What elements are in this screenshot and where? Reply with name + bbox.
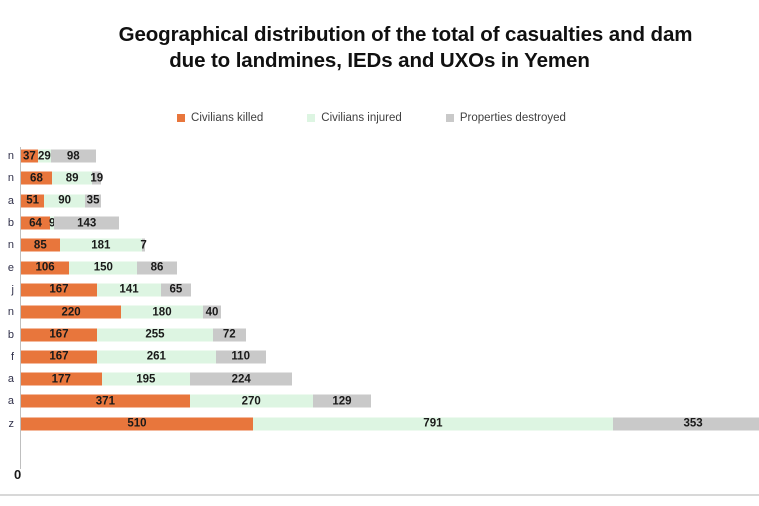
axis-origin-label: 0 — [14, 467, 21, 482]
bar-rows: n372998n688919a519035b649143n851817e1061… — [0, 145, 759, 435]
category-label: a — [0, 395, 14, 407]
legend-item[interactable]: Civilians injured — [307, 112, 402, 124]
bar-segment-destroyed[interactable]: 353 — [613, 417, 759, 430]
legend-swatch-icon — [307, 114, 315, 122]
bar-segment-killed[interactable]: 68 — [21, 172, 52, 185]
bar-value-label: 143 — [77, 217, 96, 229]
category-label: n — [0, 172, 14, 184]
bar-value-label: 255 — [145, 329, 164, 341]
chart-container: Geographical distribution of the total o… — [0, 0, 759, 506]
bar-value-label: 141 — [119, 284, 138, 296]
bar-segment-killed[interactable]: 37 — [21, 150, 38, 163]
bar-value-label: 181 — [91, 239, 110, 251]
stacked-bar[interactable]: 16714165 — [21, 283, 191, 296]
bar-segment-destroyed[interactable]: 224 — [190, 373, 292, 386]
bar-value-label: 98 — [67, 150, 80, 162]
bar-segment-killed[interactable]: 510 — [21, 417, 253, 430]
bar-row[interactable]: a371270129 — [0, 390, 759, 412]
bar-value-label: 64 — [29, 217, 42, 229]
category-label: b — [0, 329, 14, 341]
bar-value-label: 89 — [66, 172, 79, 184]
bar-row[interactable]: n372998 — [0, 145, 759, 167]
bar-value-label: 220 — [61, 306, 80, 318]
bar-value-label: 106 — [36, 262, 55, 274]
bar-segment-killed[interactable]: 167 — [21, 283, 97, 296]
category-label: b — [0, 217, 14, 229]
stacked-bar[interactable]: 688919 — [21, 172, 101, 185]
bar-segment-injured[interactable]: 89 — [52, 172, 92, 185]
bar-value-label: 150 — [94, 262, 113, 274]
chart-title: Geographical distribution of the total o… — [0, 22, 759, 74]
bar-value-label: 51 — [26, 195, 39, 207]
bar-segment-destroyed[interactable]: 143 — [54, 217, 119, 230]
bar-value-label: 195 — [136, 373, 155, 385]
bar-segment-injured[interactable]: 255 — [97, 328, 213, 341]
chart-title-line-2: due to landmines, IEDs and UXOs in Yemen — [0, 48, 759, 74]
bar-row[interactable]: a519035 — [0, 190, 759, 212]
bar-segment-injured[interactable]: 29 — [38, 150, 51, 163]
legend-label: Properties destroyed — [460, 112, 566, 124]
bar-row[interactable]: a177195224 — [0, 368, 759, 390]
bar-value-label: 353 — [683, 418, 702, 430]
bar-value-label: 68 — [30, 172, 43, 184]
stacked-bar[interactable]: 167261110 — [21, 350, 266, 363]
plot-area: n372998n688919a519035b649143n851817e1061… — [0, 145, 759, 475]
bar-value-label: 167 — [49, 351, 68, 363]
bar-row[interactable]: b649143 — [0, 212, 759, 234]
bar-segment-destroyed[interactable]: 110 — [216, 350, 266, 363]
bar-segment-destroyed[interactable]: 19 — [92, 172, 101, 185]
bar-value-label: 35 — [87, 195, 100, 207]
bar-value-label: 86 — [151, 262, 164, 274]
bar-value-label: 371 — [96, 395, 115, 407]
category-label: f — [0, 351, 14, 363]
bar-value-label: 167 — [49, 329, 68, 341]
bar-row[interactable]: z510791353 — [0, 413, 759, 435]
category-label: z — [0, 418, 14, 430]
bar-segment-killed[interactable]: 167 — [21, 350, 97, 363]
bar-segment-destroyed[interactable]: 72 — [213, 328, 246, 341]
bar-segment-killed[interactable]: 371 — [21, 395, 190, 408]
bar-segment-injured[interactable]: 195 — [102, 373, 191, 386]
bar-value-label: 224 — [232, 373, 251, 385]
bar-value-label: 37 — [23, 150, 36, 162]
category-label: j — [0, 284, 14, 296]
bar-value-label: 167 — [49, 284, 68, 296]
stacked-bar[interactable]: 649143 — [21, 217, 119, 230]
bar-row[interactable]: n688919 — [0, 167, 759, 189]
stacked-bar[interactable]: 851817 — [21, 239, 145, 252]
bar-value-label: 129 — [332, 395, 351, 407]
stacked-bar[interactable]: 22018040 — [21, 306, 221, 319]
category-label: n — [0, 239, 14, 251]
chart-legend: Civilians killedCivilians injuredPropert… — [0, 112, 751, 124]
bar-value-label: 177 — [52, 373, 71, 385]
bar-segment-killed[interactable]: 85 — [21, 239, 60, 252]
bar-value-label: 29 — [38, 150, 51, 162]
bar-value-label: 72 — [223, 329, 236, 341]
bar-segment-killed[interactable]: 106 — [21, 261, 69, 274]
bar-segment-destroyed[interactable]: 98 — [51, 150, 96, 163]
bar-segment-destroyed[interactable]: 40 — [203, 306, 221, 319]
stacked-bar[interactable]: 16725572 — [21, 328, 246, 341]
bar-segment-destroyed[interactable]: 129 — [313, 395, 372, 408]
bar-value-label: 791 — [423, 418, 442, 430]
category-label: e — [0, 262, 14, 274]
bar-row[interactable]: f167261110 — [0, 346, 759, 368]
legend-swatch-icon — [177, 114, 185, 122]
bar-value-label: 40 — [206, 306, 219, 318]
bar-value-label: 270 — [242, 395, 261, 407]
legend-label: Civilians injured — [321, 112, 402, 124]
bar-value-label: 19 — [90, 172, 103, 184]
bar-segment-destroyed[interactable]: 65 — [161, 283, 191, 296]
category-label: a — [0, 195, 14, 207]
bar-row[interactable]: j16714165 — [0, 279, 759, 301]
legend-item[interactable]: Civilians killed — [177, 112, 263, 124]
bar-segment-injured[interactable]: 141 — [97, 283, 161, 296]
bar-value-label: 261 — [147, 351, 166, 363]
bar-segment-injured[interactable]: 181 — [60, 239, 142, 252]
bar-row[interactable]: n851817 — [0, 234, 759, 256]
category-label: n — [0, 150, 14, 162]
stacked-bar[interactable]: 177195224 — [21, 373, 292, 386]
bar-segment-destroyed[interactable]: 35 — [85, 194, 101, 207]
bar-segment-killed[interactable]: 220 — [21, 306, 121, 319]
bar-segment-injured[interactable]: 90 — [44, 194, 85, 207]
bottom-divider — [0, 494, 759, 496]
stacked-bar[interactable]: 371270129 — [21, 395, 371, 408]
bar-value-label: 85 — [34, 239, 47, 251]
legend-item[interactable]: Properties destroyed — [446, 112, 566, 124]
bar-value-label: 110 — [231, 351, 250, 363]
bar-value-label: 180 — [152, 306, 171, 318]
category-label: n — [0, 306, 14, 318]
bar-segment-destroyed[interactable]: 7 — [142, 239, 145, 252]
bar-segment-injured[interactable]: 270 — [190, 395, 313, 408]
bar-segment-injured[interactable]: 261 — [97, 350, 216, 363]
bar-row[interactable]: n22018040 — [0, 301, 759, 323]
bar-segment-injured[interactable]: 180 — [121, 306, 203, 319]
chart-title-line-1: Geographical distribution of the total o… — [26, 22, 759, 48]
stacked-bar[interactable]: 372998 — [21, 150, 96, 163]
category-label: a — [0, 373, 14, 385]
bar-segment-killed[interactable]: 64 — [21, 217, 50, 230]
bar-segment-injured[interactable]: 791 — [253, 417, 613, 430]
bar-segment-killed[interactable]: 167 — [21, 328, 97, 341]
bar-value-label: 65 — [169, 284, 182, 296]
bar-value-label: 510 — [127, 418, 146, 430]
bar-segment-killed[interactable]: 51 — [21, 194, 44, 207]
legend-label: Civilians killed — [191, 112, 263, 124]
bar-segment-killed[interactable]: 177 — [21, 373, 102, 386]
bar-value-label: 90 — [58, 195, 71, 207]
stacked-bar[interactable]: 10615086 — [21, 261, 177, 274]
bar-segment-destroyed[interactable]: 86 — [137, 261, 176, 274]
stacked-bar[interactable]: 519035 — [21, 194, 101, 207]
bar-row[interactable]: b16725572 — [0, 323, 759, 345]
bar-value-label: 7 — [140, 239, 146, 251]
legend-swatch-icon — [446, 114, 454, 122]
bar-segment-injured[interactable]: 150 — [69, 261, 137, 274]
bar-row[interactable]: e10615086 — [0, 256, 759, 278]
stacked-bar[interactable]: 510791353 — [21, 417, 759, 430]
